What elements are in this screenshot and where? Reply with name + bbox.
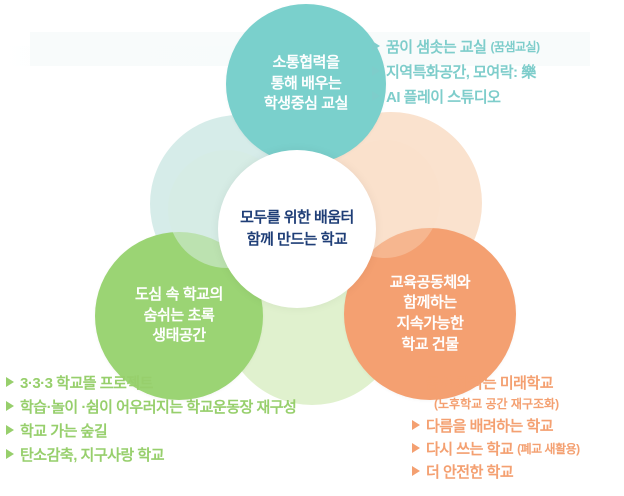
triangle-right-icon [372,91,380,101]
center-line2: 함께 만드는 학교 [240,229,354,251]
list-item[interactable]: 다시 쓰는 학교 (폐교 새활용) [412,438,580,459]
list-item-label: 다시 쓰는 학교 [426,438,513,459]
list-item-label: 더 안전한 학교 [426,461,513,482]
list-item-label: 학습·놀이 ·쉼이 어우러지는 학교운동장 재구성 [20,396,296,417]
list-item-label: 꿈이 자라는 미래학교 [426,372,553,393]
triangle-right-icon [6,425,14,435]
center-circle-text: 모두를 위한 배움터 함께 만드는 학교 [240,207,354,251]
triangle-right-icon [372,41,380,51]
list-item-label: AI 플레이 스튜디오 [386,86,500,107]
triangle-right-icon [412,377,420,387]
triangle-right-icon [6,377,14,387]
list-item[interactable]: 학교 가는 숲길 [6,420,296,441]
list-item[interactable]: 다름을 배려하는 학교 [412,415,580,436]
triangle-right-icon [372,66,380,76]
circle-teal-text: 소통협력을 통해 배우는 학생중심 교실 [264,53,348,115]
bullet-list-orange: 꿈이 자라는 미래학교 (노후학교 공간 재구조화) 다름을 배려하는 학교 다… [412,372,580,484]
circle-teal-line3: 학생중심 교실 [264,94,348,115]
list-item[interactable]: AI 플레이 스튜디오 [372,86,540,107]
list-item-label: 3·3·3 학교뜰 프로젝트 [20,372,153,393]
list-item-subtext: (노후학교 공간 재구조화) [434,395,580,412]
circle-orange-line3: 지속가능한 [390,314,470,335]
triangle-right-icon [6,449,14,459]
list-item[interactable]: 꿈이 자라는 미래학교 [412,372,580,393]
list-item-label: 꿈이 샘솟는 교실 [386,36,486,57]
list-item[interactable]: 3·3·3 학교뜰 프로젝트 [6,372,296,393]
list-item-label: 지역특화공간, 모여락: 樂 [386,61,536,82]
list-item[interactable]: 탄소감축, 지구사랑 학교 [6,444,296,465]
circle-orange-line1: 교육공동체와 [390,273,470,294]
list-item[interactable]: 꿈이 샘솟는 교실 (꿈샘교실) [372,36,540,57]
list-item-label: 학교 가는 숲길 [20,420,107,441]
circle-green-line3: 생태공간 [135,326,223,347]
list-item-note: (꿈샘교실) [490,38,539,55]
circle-green-text: 도심 속 학교의 숨쉬는 초록 생태공간 [135,285,223,347]
circle-student-centered-classroom[interactable]: 소통협력을 통해 배우는 학생중심 교실 [226,4,386,164]
circle-orange-line4: 학교 건물 [390,335,470,356]
center-line1: 모두를 위한 배움터 [240,207,354,229]
list-item-note: (폐교 새활용) [517,440,580,457]
triangle-right-icon [412,420,420,430]
list-item[interactable]: 더 안전한 학교 [412,461,580,482]
circle-orange-line2: 함께하는 [390,293,470,314]
circle-teal-line2: 통해 배우는 [264,74,348,95]
list-item[interactable]: 학습·놀이 ·쉼이 어우러지는 학교운동장 재구성 [6,396,296,417]
list-item-label: 탄소감축, 지구사랑 학교 [20,444,164,465]
bullet-list-green: 3·3·3 학교뜰 프로젝트 학습·놀이 ·쉼이 어우러지는 학교운동장 재구성… [6,372,296,468]
list-item-label: 다름을 배려하는 학교 [426,415,553,436]
triangle-right-icon [6,401,14,411]
circle-green-line1: 도심 속 학교의 [135,285,223,306]
bullet-list-teal: 꿈이 샘솟는 교실 (꿈샘교실) 지역특화공간, 모여락: 樂 AI 플레이 스… [372,36,540,111]
center-circle[interactable]: 모두를 위한 배움터 함께 만드는 학교 [218,150,376,308]
infographic-canvas: 소통협력을 통해 배우는 학생중심 교실 도심 속 학교의 숨쉬는 초록 생태공… [0,0,624,496]
triangle-right-icon [412,466,420,476]
circle-teal-line1: 소통협력을 [264,53,348,74]
circle-orange-text: 교육공동체와 함께하는 지속가능한 학교 건물 [390,273,470,356]
circle-green-line2: 숨쉬는 초록 [135,306,223,327]
list-item[interactable]: 지역특화공간, 모여락: 樂 [372,61,540,82]
triangle-right-icon [412,443,420,453]
